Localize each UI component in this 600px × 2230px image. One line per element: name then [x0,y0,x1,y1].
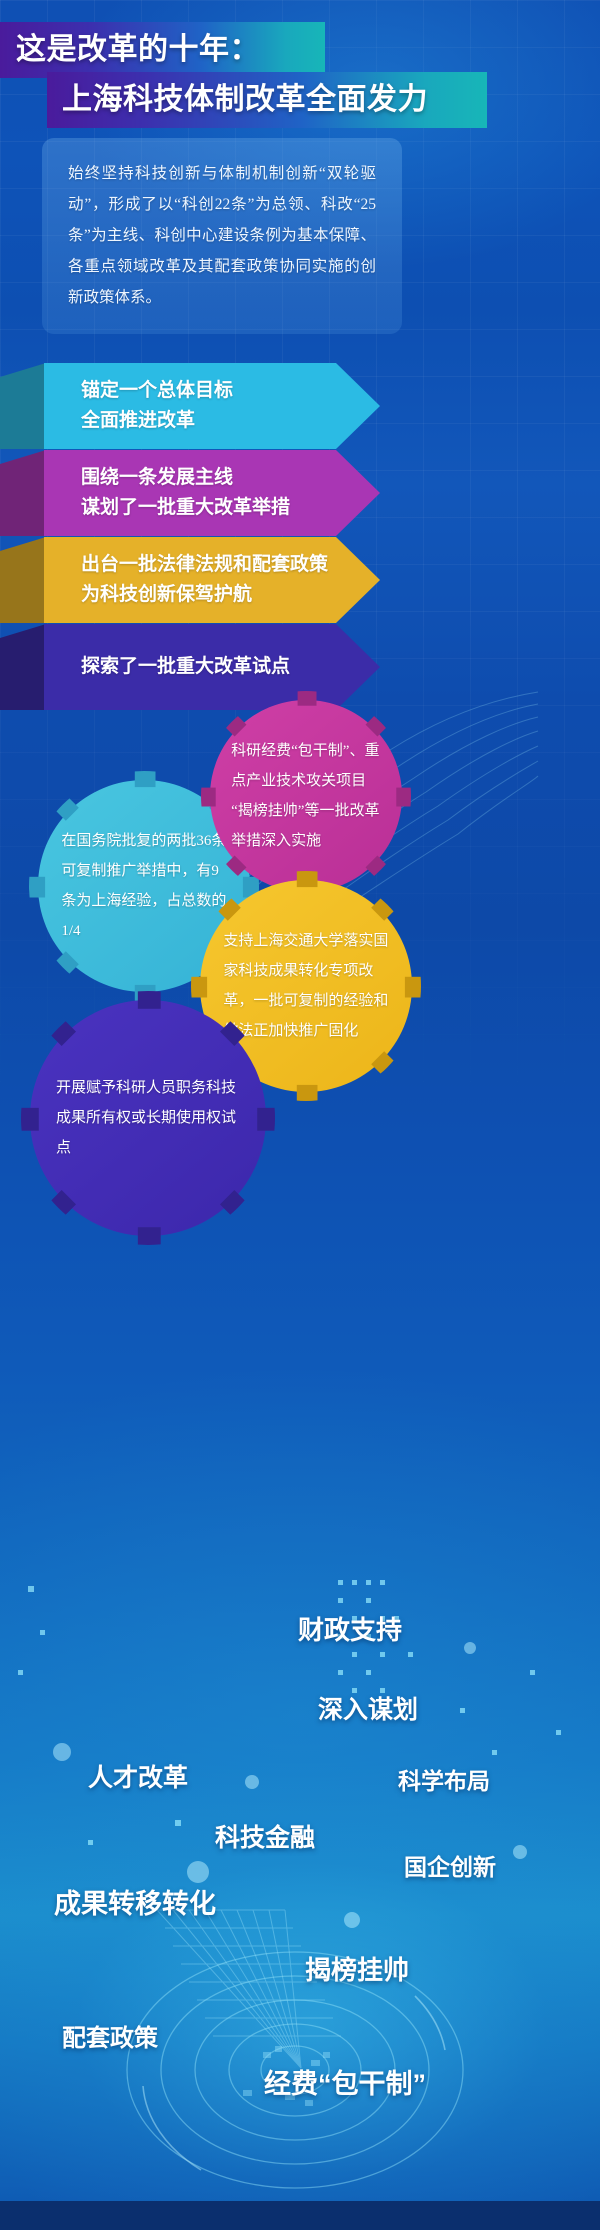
arrow-banner-tail [0,450,46,536]
poster-canvas: 这是改革的十年： 上海科技体制改革全面发力 始终坚持科技创新与体制机制创新“双轮… [0,0,600,2201]
title-bar-line-1: 这是改革的十年： [0,22,325,78]
keyword-tag[interactable]: 财政支持 [298,1610,402,1647]
keyword-tag[interactable]: 揭榜挂帅 [305,1950,409,1987]
arrow-banner-tail [0,363,46,449]
arrow-banner-line: 为科技创新保驾护航 [81,580,380,610]
page-title-line-1: 这是改革的十年： [0,35,260,65]
stat-circle-gold-text: 支持上海交通大学落实国家科技成果转化专项改革，一批可复制的经验和做法正加快推广固… [223,926,388,1046]
keyword-tag[interactable]: 经费“包干制” [264,2062,426,2101]
arrow-banner-line: 谋划了一批重大改革举措 [81,493,380,523]
intro-summary-card: 始终坚持科技创新与体制机制创新“双轮驱动”，形成了以“科创22条”为总领、科改“… [42,138,402,334]
keyword-tag[interactable]: 人才改革 [88,1758,188,1794]
arrow-banner-body: 锚定一个总体目标全面推进改革 [44,363,380,449]
page-title-line-2: 上海科技体制改革全面发力 [47,85,428,115]
keyword-tag[interactable]: 配套政策 [62,2018,158,2053]
stat-circle-cyan-text: 在国务院批复的两批36条可复制推广举措中，有9条为上海经验，占总数的1/4 [61,826,226,946]
arrow-banner-tail [0,537,46,623]
stat-circle-pink-text: 科研经费“包干制”、重点产业技术攻关项目“揭榜挂帅”等一批改革举措深入实施 [231,736,381,856]
arrow-banner-line: 出台一批法律法规和配套政策 [81,550,380,580]
arrow-banner-tail [0,624,46,710]
stat-circle-purple-text: 开展赋予科研人员职务科技成果所有权或长期使用权试点 [56,1073,240,1163]
arrow-banner-line: 探索了一批重大改革试点 [81,652,380,682]
arrow-banner-line: 围绕一条发展主线 [81,463,380,493]
arrow-banner-list: 锚定一个总体目标全面推进改革围绕一条发展主线谋划了一批重大改革举措出台一批法律法… [0,363,440,710]
stat-circle-purple: 开展赋予科研人员职务科技成果所有权或长期使用权试点 [30,1000,266,1236]
keyword-tag[interactable]: 国企创新 [404,1848,496,1882]
arrow-banner-line: 全面推进改革 [81,406,380,436]
tech-dots-decoration [0,1520,600,2080]
arrow-banner-body: 围绕一条发展主线谋划了一批重大改革举措 [44,450,380,536]
keyword-tag[interactable]: 深入谋划 [318,1690,418,1726]
intro-paragraph: 始终坚持科技创新与体制机制创新“双轮驱动”，形成了以“科创22条”为总领、科改“… [68,158,376,313]
keyword-tag[interactable]: 成果转移转化 [54,1882,216,1921]
keyword-tag[interactable]: 科学布局 [398,1762,490,1796]
stat-circle-pink: 科研经费“包干制”、重点产业技术攻关项目“揭榜挂帅”等一批改革举措深入实施 [210,700,402,892]
keyword-tag[interactable]: 科技金融 [215,1818,315,1854]
arrow-banner-line: 锚定一个总体目标 [81,376,380,406]
title-bar-line-2: 上海科技体制改革全面发力 [47,72,487,128]
arrow-banner-body: 出台一批法律法规和配套政策为科技创新保驾护航 [44,537,380,623]
